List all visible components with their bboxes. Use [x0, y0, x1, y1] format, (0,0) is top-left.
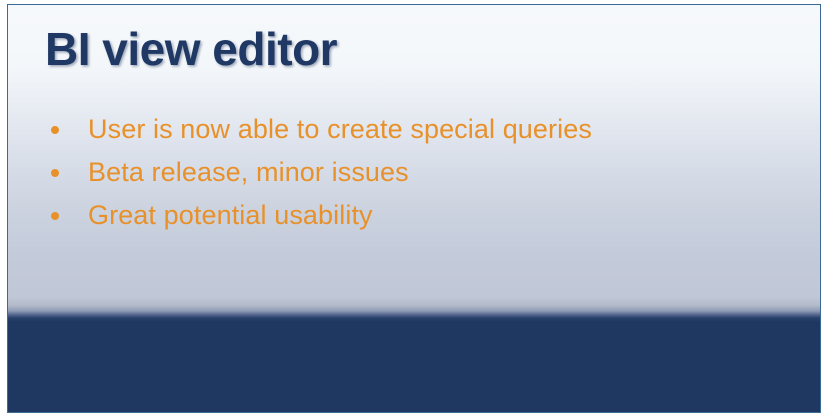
slide-title: BI view editor [45, 22, 337, 76]
list-item-label: User is now able to create special queri… [88, 114, 592, 144]
slide-frame: BI view editor User is now able to creat… [7, 4, 821, 413]
list-item-label: Great potential usability [88, 200, 373, 230]
list-item-label: Beta release, minor issues [88, 157, 409, 187]
bullet-list: User is now able to create special queri… [48, 113, 768, 242]
bullet-dot-icon [51, 212, 59, 220]
slide-footer-band [8, 321, 820, 412]
list-item: Beta release, minor issues [48, 156, 768, 199]
list-item: User is now able to create special queri… [48, 113, 768, 156]
bullet-dot-icon [51, 169, 59, 177]
list-item: Great potential usability [48, 199, 768, 242]
bullet-dot-icon [51, 126, 59, 134]
slide-page: BI view editor User is now able to creat… [0, 0, 828, 417]
